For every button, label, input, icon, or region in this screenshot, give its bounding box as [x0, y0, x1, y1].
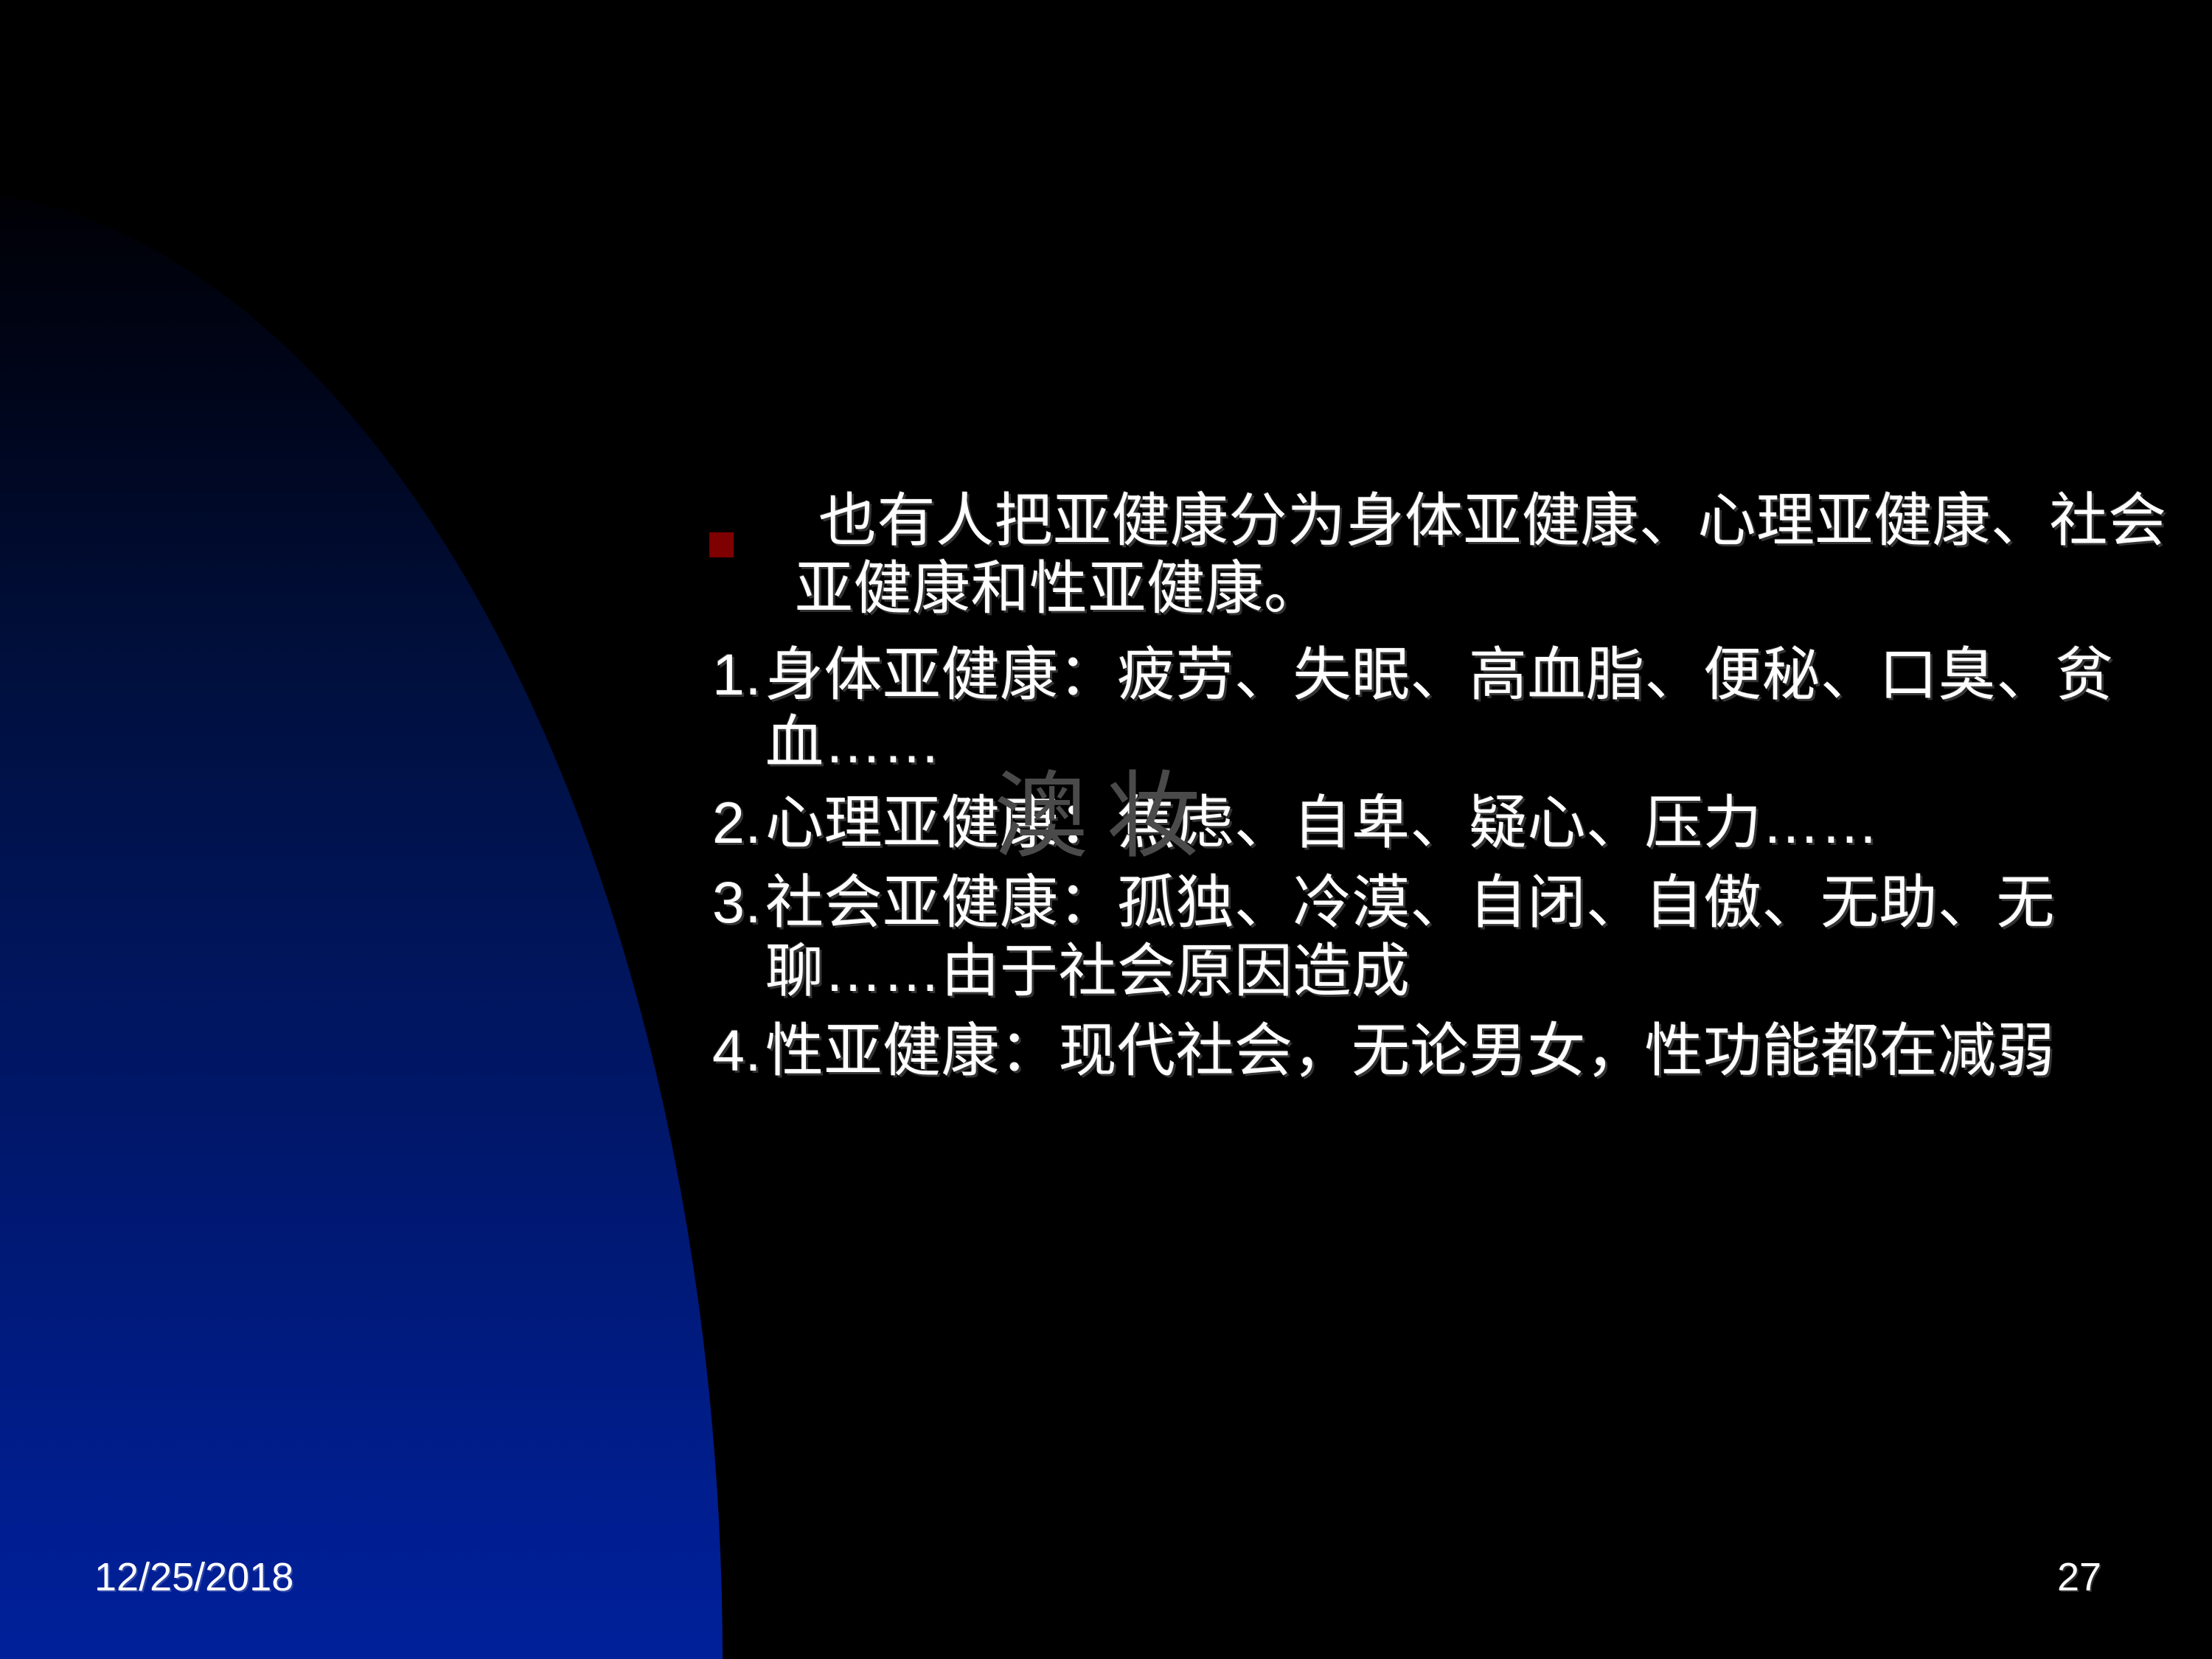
- numbered-list: 身体亚健康：疲劳、失眠、高血脂、便秘、口臭、贫血…… 心理亚健康：焦虑、自卑、疑…: [708, 641, 2175, 1085]
- footer-page-number: 27: [2057, 1554, 2146, 1600]
- list-item-text: 社会亚健康：孤独、冷漠、自闭、自傲、无助、无聊……由于社会原因造成: [765, 869, 2055, 1003]
- blue-ellipse-decoration: [0, 188, 723, 1659]
- square-bullet-icon: [709, 532, 734, 557]
- list-item-text: 身体亚健康：疲劳、失眠、高血脂、便秘、口臭、贫血……: [765, 641, 2114, 775]
- list-item: 性亚健康：现代社会，无论男女，性功能都在减弱: [708, 1017, 2175, 1085]
- footer-date: 12/25/2018: [94, 1554, 293, 1600]
- lead-paragraph-text: 也有人把亚健康分为身体亚健康、心理亚健康、社会亚健康和性亚健康。: [795, 487, 2167, 621]
- list-item: 社会亚健康：孤独、冷漠、自闭、自傲、无助、无聊……由于社会原因造成: [708, 869, 2175, 1005]
- list-item: 身体亚健康：疲劳、失眠、高血脂、便秘、口臭、贫血……: [708, 641, 2175, 777]
- lead-paragraph: 也有人把亚健康分为身体亚健康、心理亚健康、社会亚健康和性亚健康。: [708, 487, 2175, 623]
- slide-canvas: 澳妆 也有人把亚健康分为身体亚健康、心理亚健康、社会亚健康和性亚健康。 身体亚健…: [0, 0, 2212, 1659]
- list-item: 心理亚健康：焦虑、自卑、疑心、压力……: [708, 789, 2175, 857]
- slide-content: 也有人把亚健康分为身体亚健康、心理亚健康、社会亚健康和性亚健康。 身体亚健康：疲…: [708, 487, 2175, 1096]
- list-item-text: 性亚健康：现代社会，无论男女，性功能都在减弱: [765, 1018, 2055, 1083]
- list-item-text: 心理亚健康：焦虑、自卑、疑心、压力……: [765, 790, 1879, 855]
